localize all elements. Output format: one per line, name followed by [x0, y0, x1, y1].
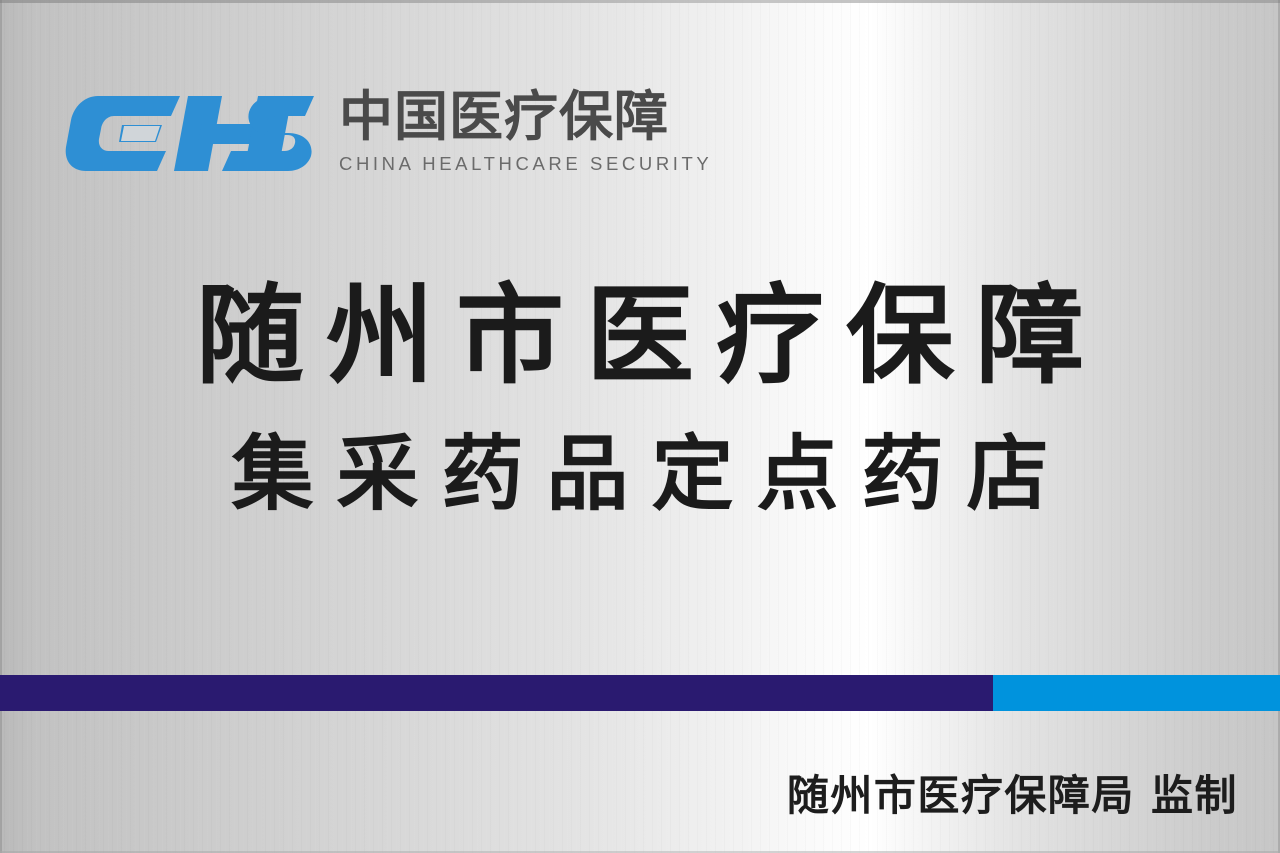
sign-title: 随州市医疗保障	[0, 276, 1280, 397]
pharmacy-signboard: 中国医疗保障 CHINA HEALTHCARE SECURITY 随州市医疗保障…	[0, 0, 1280, 853]
sign-subtitle: 集采药品定点药店	[0, 429, 1280, 519]
accent-bar-azure-segment	[993, 675, 1280, 711]
brand-name-en: CHINA HEALTHCARE SECURITY	[339, 153, 712, 175]
brand-masthead: 中国医疗保障 CHINA HEALTHCARE SECURITY	[62, 88, 712, 175]
brand-text-lockup: 中国医疗保障 CHINA HEALTHCARE SECURITY	[339, 88, 712, 175]
sign-title-block: 随州市医疗保障 集采药品定点药店	[0, 276, 1280, 519]
chs-logo-icon	[62, 92, 317, 174]
brand-name-cn: 中国医疗保障	[339, 90, 669, 144]
plaque-top-edge	[0, 0, 1280, 3]
issuing-authority-label: 随州市医疗保障局 监制	[787, 762, 1238, 823]
accent-bar-navy-segment	[0, 675, 993, 711]
accent-color-bar	[0, 675, 1280, 711]
